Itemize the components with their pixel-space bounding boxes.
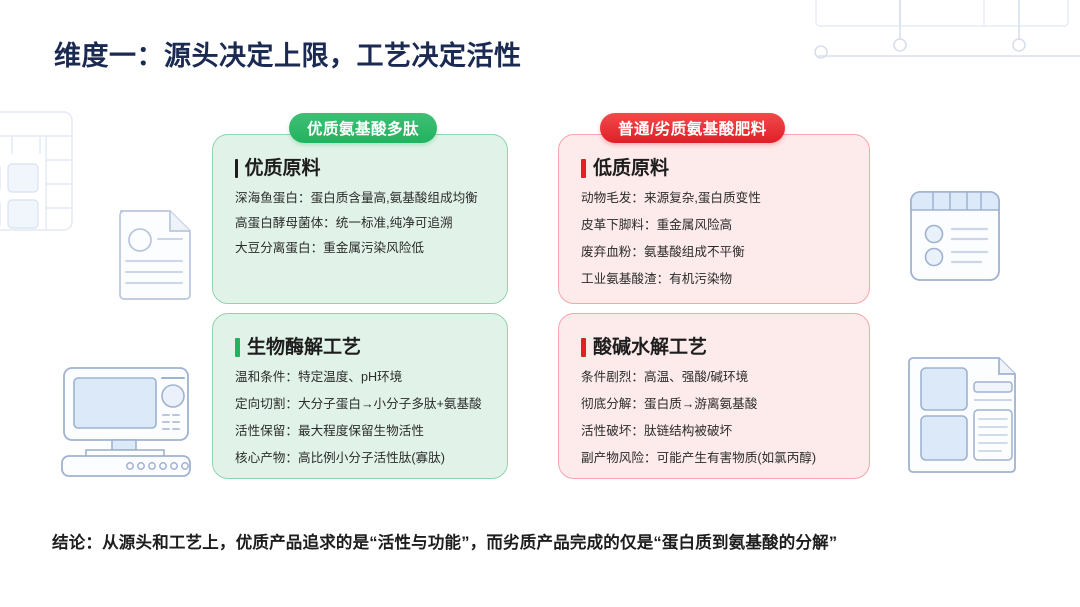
page-title: 维度一：源头决定上限，工艺决定活性	[54, 34, 522, 73]
list-item: 皮革下脚料：重金属风险高	[581, 217, 847, 235]
list-panel-icon	[905, 186, 1005, 286]
card-heading: 低质原料	[581, 159, 847, 178]
accent-bar-icon	[581, 159, 586, 178]
card-heading: 优质原料	[235, 159, 485, 178]
accent-bar-icon	[581, 338, 586, 357]
card-good-raw-material: 优质原料 深海鱼蛋白：蛋白质含量高,氨基酸组成均衡 高蛋白酵母菌体：统一标准,纯…	[212, 134, 508, 304]
card-list: 动物毛发：来源复杂,蛋白质变性 皮革下脚料：重金属风险高 废弃血粉：氨基酸组成不…	[581, 190, 847, 289]
card-heading-text: 低质原料	[593, 159, 669, 178]
grid-table-icon	[788, 0, 1080, 80]
list-item: 彻底分解：蛋白质→游离氨基酸	[581, 396, 847, 414]
list-item: 工业氨基酸渣：有机污染物	[581, 271, 847, 289]
conclusion-text: 结论：从源头和工艺上，优质产品追求的是“活性与功能”，而劣质产品完成的仅是“蛋白…	[52, 529, 837, 553]
list-item: 动物毛发：来源复杂,蛋白质变性	[581, 190, 847, 208]
calendar-grid-icon	[0, 108, 78, 238]
card-heading: 酸碱水解工艺	[581, 338, 847, 357]
card-bad-raw-material: 低质原料 动物毛发：来源复杂,蛋白质变性 皮革下脚料：重金属风险高 废弃血粉：氨…	[558, 134, 870, 304]
card-heading: 生物酶解工艺	[235, 338, 485, 357]
list-item: 废弃血粉：氨基酸组成不平衡	[581, 244, 847, 262]
card-heading-text: 生物酶解工艺	[247, 338, 361, 357]
list-item: 活性保留：最大程度保留生物活性	[235, 423, 485, 441]
list-item: 核心产物：高比例小分子活性肽(寡肽)	[235, 450, 485, 468]
card-list: 深海鱼蛋白：蛋白质含量高,氨基酸组成均衡 高蛋白酵母菌体：统一标准,纯净可追溯 …	[235, 190, 485, 258]
accent-bar-icon	[235, 159, 238, 178]
list-item: 定向切割：大分子蛋白→小分子多肽+氨基酸	[235, 396, 485, 414]
article-layout-icon	[905, 352, 1021, 476]
desktop-computer-icon	[58, 358, 194, 480]
list-item: 温和条件：特定温度、pH环境	[235, 369, 485, 387]
card-heading-text: 优质原料	[245, 159, 321, 178]
list-item: 副产物风险：可能产生有害物质(如氯丙醇)	[581, 450, 847, 468]
document-icon	[112, 205, 198, 301]
card-good-process: 生物酶解工艺 温和条件：特定温度、pH环境 定向切割：大分子蛋白→小分子多肽+氨…	[212, 313, 508, 479]
card-heading-text: 酸碱水解工艺	[593, 338, 707, 357]
card-list: 温和条件：特定温度、pH环境 定向切割：大分子蛋白→小分子多肽+氨基酸 活性保留…	[235, 369, 485, 468]
list-item: 活性破坏：肽链结构被破坏	[581, 423, 847, 441]
card-list: 条件剧烈：高温、强酸/碱环境 彻底分解：蛋白质→游离氨基酸 活性破坏：肽链结构被…	[581, 369, 847, 468]
card-bad-process: 酸碱水解工艺 条件剧烈：高温、强酸/碱环境 彻底分解：蛋白质→游离氨基酸 活性破…	[558, 313, 870, 479]
list-item: 高蛋白酵母菌体：统一标准,纯净可追溯	[235, 215, 485, 233]
badge-good-quality: 优质氨基酸多肽	[289, 113, 437, 143]
list-item: 大豆分离蛋白：重金属污染风险低	[235, 240, 485, 258]
accent-bar-icon	[235, 338, 240, 357]
badge-low-quality: 普通/劣质氨基酸肥料	[600, 113, 785, 143]
list-item: 条件剧烈：高温、强酸/碱环境	[581, 369, 847, 387]
list-item: 深海鱼蛋白：蛋白质含量高,氨基酸组成均衡	[235, 190, 485, 208]
